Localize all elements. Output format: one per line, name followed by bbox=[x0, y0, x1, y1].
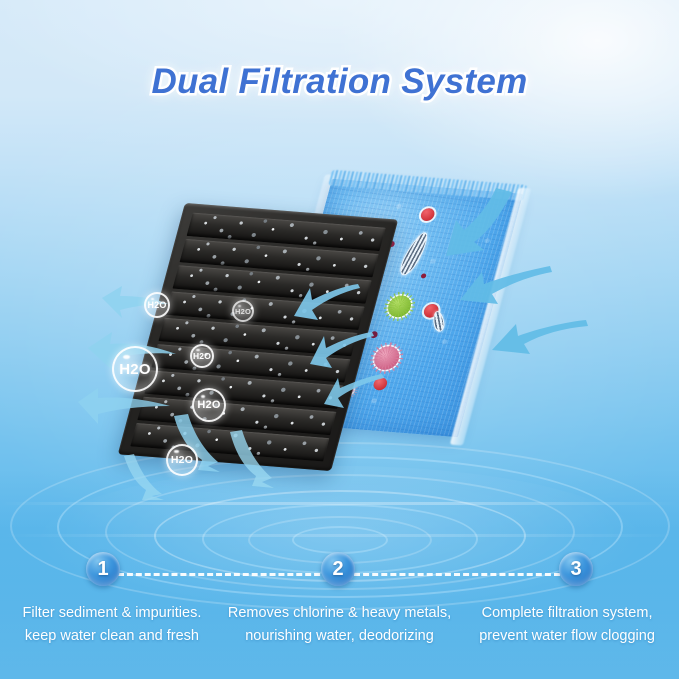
h2o-bubble: H2O bbox=[190, 344, 214, 368]
h2o-bubble: H2O bbox=[192, 388, 226, 422]
caption-line: nourishing water, deodorizing bbox=[228, 625, 451, 648]
infographic-canvas: Dual Filtration System bbox=[0, 0, 679, 679]
step-number-label: 2 bbox=[332, 558, 343, 581]
water-inflow-arrow bbox=[486, 318, 590, 374]
step-connector-line bbox=[354, 573, 560, 576]
h2o-bubble: H2O bbox=[232, 300, 254, 322]
h2o-label: H2O bbox=[235, 307, 251, 316]
h2o-bubble: H2O bbox=[112, 346, 158, 392]
step-caption-3: Complete filtration system, prevent wate… bbox=[455, 602, 679, 649]
caption-line: Removes chlorine & heavy metals, bbox=[228, 602, 451, 625]
water-transfer-arrow bbox=[322, 372, 388, 420]
step-caption-2: Removes chlorine & heavy metals, nourish… bbox=[224, 602, 455, 649]
step-connector-line bbox=[118, 573, 329, 576]
product-illustration: H2O H2O H2O H2O H2O H2O bbox=[0, 0, 679, 520]
step-number-label: 1 bbox=[97, 558, 108, 581]
water-inflow-arrow bbox=[430, 186, 518, 262]
step-number-badge-1: 1 bbox=[86, 552, 120, 586]
step-caption-1: Filter sediment & impurities. keep water… bbox=[0, 602, 224, 649]
water-outflow-arrow bbox=[76, 386, 172, 426]
caption-line: Filter sediment & impurities. bbox=[4, 602, 220, 625]
h2o-label: H2O bbox=[171, 454, 193, 466]
step-captions: Filter sediment & impurities. keep water… bbox=[0, 602, 679, 649]
caption-line: Complete filtration system, bbox=[459, 602, 675, 625]
h2o-bubble: H2O bbox=[144, 292, 170, 318]
water-inflow-arrow bbox=[452, 262, 556, 324]
h2o-label: H2O bbox=[197, 399, 220, 411]
step-number-badge-2: 2 bbox=[321, 552, 355, 586]
steps-section: 1 2 3 Filter sediment & impurities. keep… bbox=[0, 552, 679, 679]
water-outflow-arrow bbox=[226, 428, 282, 490]
h2o-label: H2O bbox=[193, 351, 211, 361]
step-number-label: 3 bbox=[570, 558, 581, 581]
caption-line: prevent water flow clogging bbox=[459, 625, 675, 648]
h2o-bubble: H2O bbox=[166, 444, 198, 476]
h2o-label: H2O bbox=[147, 300, 166, 310]
water-transfer-arrow bbox=[292, 282, 364, 336]
virus-green-icon bbox=[386, 295, 414, 318]
caption-line: keep water clean and fresh bbox=[4, 625, 220, 648]
step-number-badge-3: 3 bbox=[559, 552, 593, 586]
h2o-label: H2O bbox=[119, 361, 150, 378]
